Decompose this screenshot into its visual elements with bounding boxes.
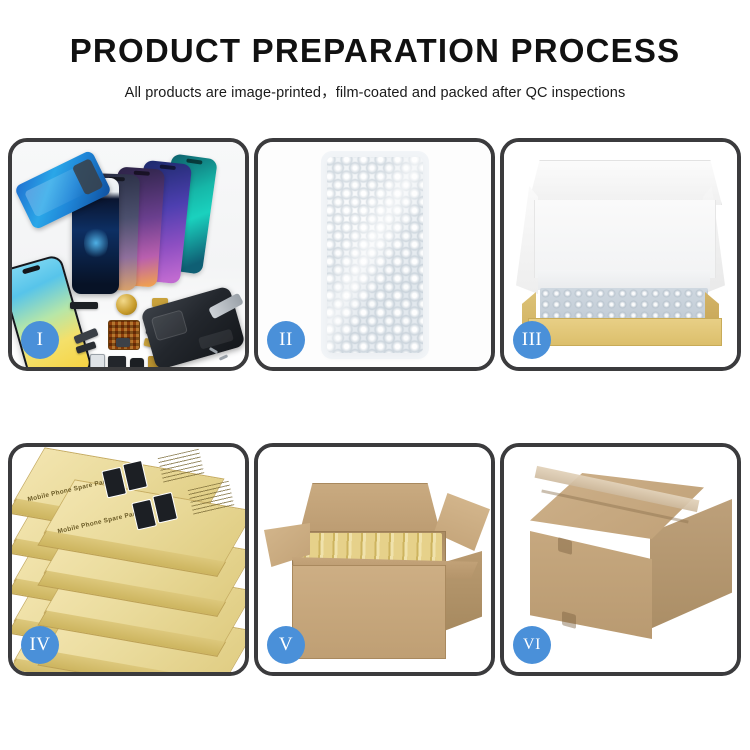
- step-panel-4: Mobile Phone Spare Parts Mobile Phone Sp…: [8, 443, 249, 676]
- screws-icon: [209, 345, 235, 363]
- page-header: PRODUCT PREPARATION PROCESS All products…: [0, 0, 750, 102]
- plastic-sheen: [327, 157, 423, 353]
- spare-part-icon: [70, 302, 98, 309]
- bubble-wrapped-product-icon: [327, 157, 423, 353]
- page-title: PRODUCT PREPARATION PROCESS: [0, 34, 750, 69]
- spare-part-icon: [116, 338, 130, 347]
- step-panel-3: III: [500, 138, 741, 371]
- mailer-foam-icon: [538, 270, 710, 290]
- page-subtitle: All products are image-printed，film-coat…: [0, 81, 750, 102]
- mailer-lid-icon: [528, 160, 722, 205]
- carton-front-panel-icon: [292, 565, 446, 659]
- step-badge-4: IV: [21, 626, 59, 664]
- step-panel-1: I: [8, 138, 249, 371]
- product-preparation-page: PRODUCT PREPARATION PROCESS All products…: [0, 0, 750, 750]
- camera-module-part-icon: [108, 356, 126, 367]
- step-panel-6: VI: [500, 443, 741, 676]
- step-badge-5: V: [267, 626, 305, 664]
- bubble-wrapped-content-icon: [540, 288, 708, 320]
- sim-tray-part-icon: [90, 354, 105, 367]
- step-panel-5: V: [254, 443, 495, 676]
- step-badge-1: I: [21, 321, 59, 359]
- step-badge-6: VI: [513, 626, 551, 664]
- step-badge-2: II: [267, 321, 305, 359]
- speaker-part-icon: [130, 358, 144, 367]
- step-badge-3: III: [513, 321, 551, 359]
- mailer-interior-icon: [534, 200, 716, 278]
- mailer-front-panel-icon: [528, 318, 722, 346]
- process-step-grid: I II: [8, 138, 742, 676]
- wireless-coil-part-icon: [116, 294, 137, 315]
- step-panel-2: II: [254, 138, 495, 371]
